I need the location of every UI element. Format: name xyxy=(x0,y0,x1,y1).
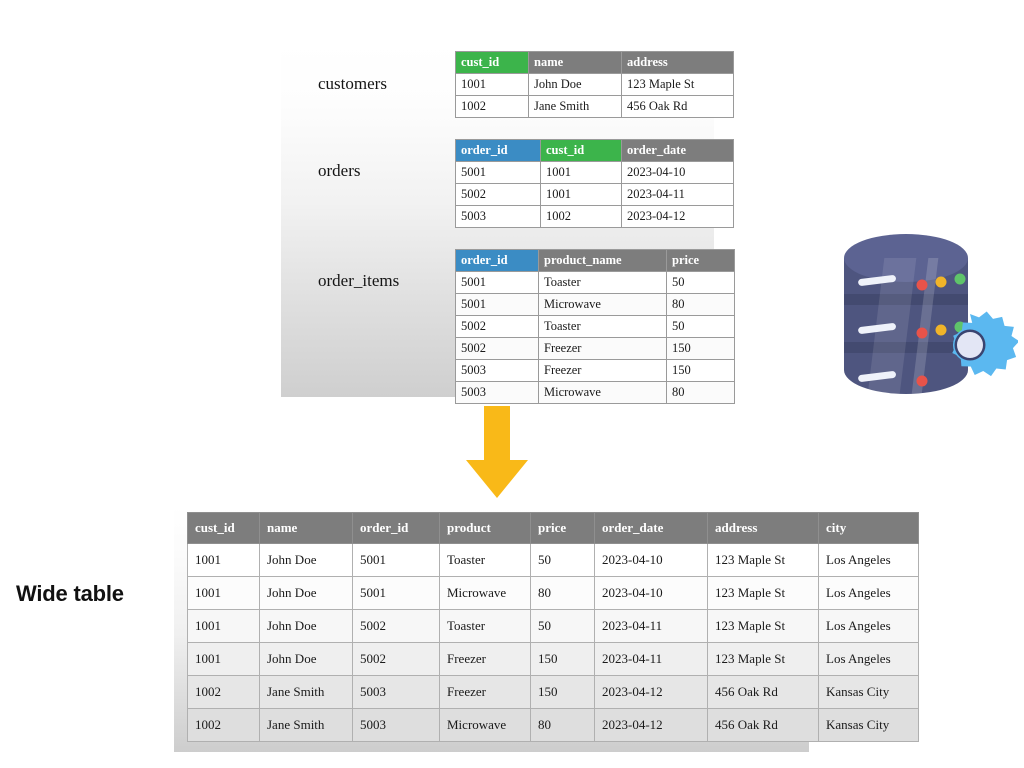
status-dot-yellow xyxy=(936,277,947,288)
cell-order-id: 5002 xyxy=(353,610,440,643)
table-wide: cust_id name order_id product price orde… xyxy=(187,512,919,742)
table-row: 1001 John Doe 5001 Toaster 50 2023-04-10… xyxy=(188,544,919,577)
status-dot-red xyxy=(917,328,928,339)
col-header-order-id: order_id xyxy=(353,513,440,544)
cell-city: Kansas City xyxy=(819,676,919,709)
database-gear-icon xyxy=(836,228,1018,408)
col-header-order-date: order_date xyxy=(622,140,734,162)
cell: Toaster xyxy=(539,272,667,294)
table-row: 5002 1001 2023-04-11 xyxy=(456,184,734,206)
col-header-order-id: order_id xyxy=(456,250,539,272)
col-header-order-id: order_id xyxy=(456,140,541,162)
cell: 1002 xyxy=(456,96,529,118)
cell-cust-id: 1001 xyxy=(188,610,260,643)
cell-cust-id: 1002 xyxy=(188,676,260,709)
col-header-cust-id: cust_id xyxy=(456,52,529,74)
source-table-block-orders: orders xyxy=(318,161,360,181)
table-row: 5001 1001 2023-04-10 xyxy=(456,162,734,184)
cell-city: Los Angeles xyxy=(819,544,919,577)
cell: 2023-04-11 xyxy=(622,184,734,206)
cell: Toaster xyxy=(539,316,667,338)
cell-address: 456 Oak Rd xyxy=(708,676,819,709)
table-row: 1002 Jane Smith 456 Oak Rd xyxy=(456,96,734,118)
col-header-address: address xyxy=(708,513,819,544)
down-arrow-icon xyxy=(464,404,530,500)
cell-city: Los Angeles xyxy=(819,610,919,643)
cell-order-id: 5003 xyxy=(353,676,440,709)
cell: 456 Oak Rd xyxy=(622,96,734,118)
col-header-price: price xyxy=(531,513,595,544)
cell: Microwave xyxy=(539,382,667,404)
cell: 1001 xyxy=(541,162,622,184)
table-row: 5003 Freezer 150 xyxy=(456,360,735,382)
table-header-row: order_id product_name price xyxy=(456,250,735,272)
cell-cust-id: 1001 xyxy=(188,544,260,577)
cell-address: 123 Maple St xyxy=(708,577,819,610)
table-header-row: cust_id name order_id product price orde… xyxy=(188,513,919,544)
cell-order-id: 5001 xyxy=(353,544,440,577)
cell-city: Kansas City xyxy=(819,709,919,742)
cell: 5001 xyxy=(456,272,539,294)
cell: Freezer xyxy=(539,360,667,382)
cell: 5002 xyxy=(456,184,541,206)
cell: 5003 xyxy=(456,206,541,228)
cell: 5003 xyxy=(456,382,539,404)
col-header-price: price xyxy=(667,250,735,272)
status-dot-red xyxy=(917,376,928,387)
cell-cust-id: 1002 xyxy=(188,709,260,742)
cell-address: 123 Maple St xyxy=(708,610,819,643)
cell-order-date: 2023-04-11 xyxy=(595,643,708,676)
cell-order-date: 2023-04-11 xyxy=(595,610,708,643)
cell: 150 xyxy=(667,338,735,360)
cell-order-date: 2023-04-12 xyxy=(595,676,708,709)
cell-price: 50 xyxy=(531,610,595,643)
col-header-product: product xyxy=(440,513,531,544)
cell-product: Toaster xyxy=(440,544,531,577)
cell-order-id: 5001 xyxy=(353,577,440,610)
table-orders: order_id cust_id order_date 5001 1001 20… xyxy=(455,139,734,228)
cell: 5002 xyxy=(456,338,539,360)
cell: Microwave xyxy=(539,294,667,316)
cell-product: Freezer xyxy=(440,676,531,709)
cell-product: Toaster xyxy=(440,610,531,643)
cell-price: 150 xyxy=(531,676,595,709)
table-row: 1001 John Doe 123 Maple St xyxy=(456,74,734,96)
source-table-block-customers: customers xyxy=(318,74,387,94)
cell: 150 xyxy=(667,360,735,382)
col-header-cust-id: cust_id xyxy=(188,513,260,544)
cell-address: 456 Oak Rd xyxy=(708,709,819,742)
cell: 123 Maple St xyxy=(622,74,734,96)
cell-name: John Doe xyxy=(260,544,353,577)
cell-order-date: 2023-04-10 xyxy=(595,544,708,577)
cell: 50 xyxy=(667,316,735,338)
cell-name: Jane Smith xyxy=(260,676,353,709)
col-header-name: name xyxy=(260,513,353,544)
table-header-row: cust_id name address xyxy=(456,52,734,74)
col-header-order-date: order_date xyxy=(595,513,708,544)
cell: 5002 xyxy=(456,316,539,338)
cell-order-id: 5003 xyxy=(353,709,440,742)
table-row: 5001 Toaster 50 xyxy=(456,272,735,294)
table-row: 1002 Jane Smith 5003 Freezer 150 2023-04… xyxy=(188,676,919,709)
col-header-product-name: product_name xyxy=(539,250,667,272)
cell: John Doe xyxy=(529,74,622,96)
table-label-customers: customers xyxy=(318,74,387,94)
cell: 80 xyxy=(667,382,735,404)
cell: Jane Smith xyxy=(529,96,622,118)
cell-price: 50 xyxy=(531,544,595,577)
cell-price: 80 xyxy=(531,709,595,742)
cell-city: Los Angeles xyxy=(819,643,919,676)
col-header-city: city xyxy=(819,513,919,544)
table-header-row: order_id cust_id order_date xyxy=(456,140,734,162)
cell-product: Freezer xyxy=(440,643,531,676)
status-dot-yellow xyxy=(936,325,947,336)
table-row: 5001 Microwave 80 xyxy=(456,294,735,316)
cell-cust-id: 1001 xyxy=(188,577,260,610)
source-table-block-order-items: order_items xyxy=(318,271,399,291)
cell-price: 80 xyxy=(531,577,595,610)
table-row: 5002 Freezer 150 xyxy=(456,338,735,360)
cell-product: Microwave xyxy=(440,709,531,742)
cell-product: Microwave xyxy=(440,577,531,610)
cell: 2023-04-10 xyxy=(622,162,734,184)
status-dot-red xyxy=(917,280,928,291)
table-row: 5003 1002 2023-04-12 xyxy=(456,206,734,228)
table-row: 1001 John Doe 5002 Toaster 50 2023-04-11… xyxy=(188,610,919,643)
cell-order-id: 5002 xyxy=(353,643,440,676)
table-row: 1001 John Doe 5002 Freezer 150 2023-04-1… xyxy=(188,643,919,676)
cell-price: 150 xyxy=(531,643,595,676)
col-header-cust-id: cust_id xyxy=(541,140,622,162)
cell: 80 xyxy=(667,294,735,316)
cell: Freezer xyxy=(539,338,667,360)
table-order-items: order_id product_name price 5001 Toaster… xyxy=(455,249,735,404)
cell: 5003 xyxy=(456,360,539,382)
cell-name: John Doe xyxy=(260,610,353,643)
cell: 1002 xyxy=(541,206,622,228)
table-customers: cust_id name address 1001 John Doe 123 M… xyxy=(455,51,734,118)
cell-address: 123 Maple St xyxy=(708,544,819,577)
cell: 1001 xyxy=(541,184,622,206)
cell-order-date: 2023-04-10 xyxy=(595,577,708,610)
cell: 5001 xyxy=(456,162,541,184)
table-row: 1002 Jane Smith 5003 Microwave 80 2023-0… xyxy=(188,709,919,742)
table-row: 5002 Toaster 50 xyxy=(456,316,735,338)
cell-name: John Doe xyxy=(260,643,353,676)
cell-name: John Doe xyxy=(260,577,353,610)
cell-name: Jane Smith xyxy=(260,709,353,742)
cell: 5001 xyxy=(456,294,539,316)
cell: 1001 xyxy=(456,74,529,96)
status-dot-green xyxy=(955,274,966,285)
cell-city: Los Angeles xyxy=(819,577,919,610)
cell-cust-id: 1001 xyxy=(188,643,260,676)
cell: 2023-04-12 xyxy=(622,206,734,228)
wide-table-title: Wide table xyxy=(16,581,166,607)
table-row: 1001 John Doe 5001 Microwave 80 2023-04-… xyxy=(188,577,919,610)
col-header-address: address xyxy=(622,52,734,74)
table-label-order-items: order_items xyxy=(318,271,399,291)
cell-order-date: 2023-04-12 xyxy=(595,709,708,742)
col-header-name: name xyxy=(529,52,622,74)
table-label-orders: orders xyxy=(318,161,360,181)
cell-address: 123 Maple St xyxy=(708,643,819,676)
cell: 50 xyxy=(667,272,735,294)
table-row: 5003 Microwave 80 xyxy=(456,382,735,404)
